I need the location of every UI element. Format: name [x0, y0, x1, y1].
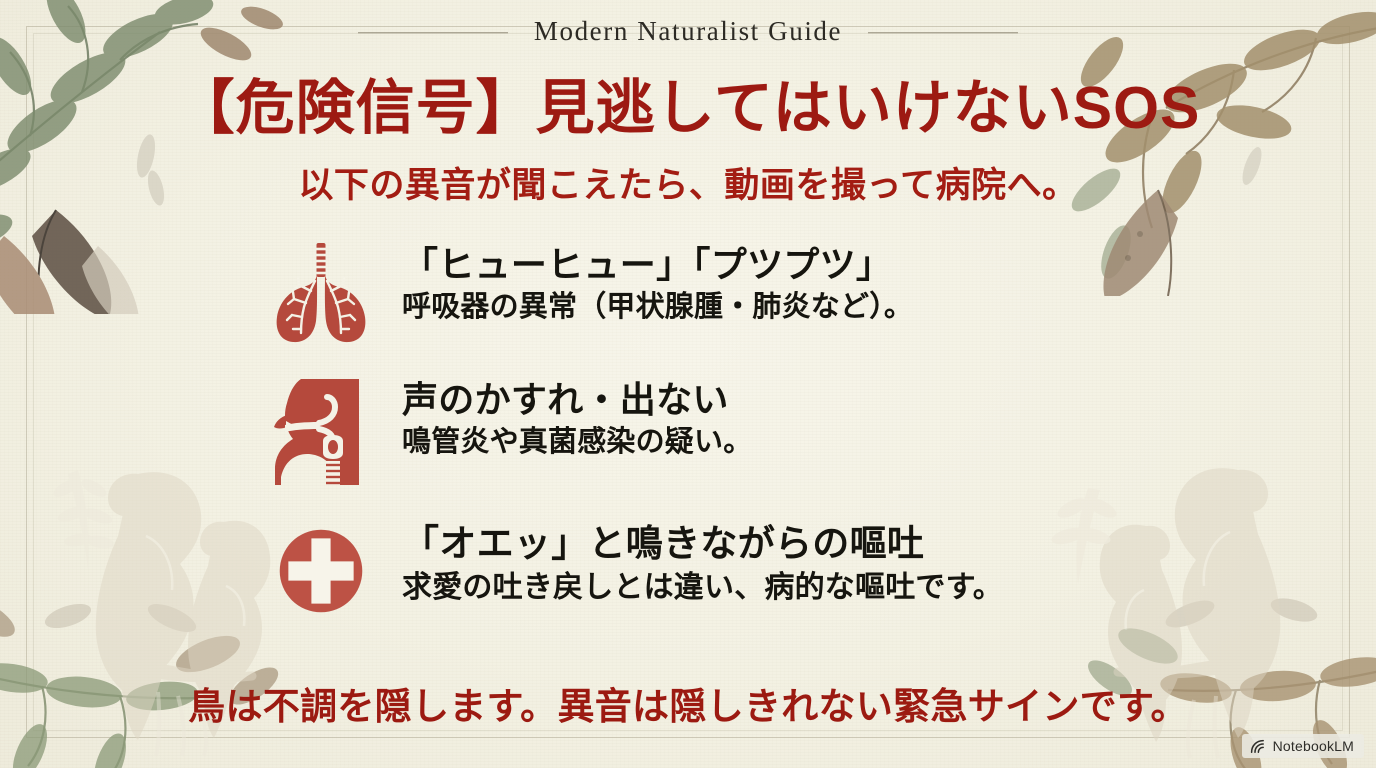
symptom-heading: 声のかすれ・出ない — [402, 379, 752, 421]
symptom-list: 「ヒューヒュー」「プツプツ」 呼吸器の異常（甲状腺腫・肺炎など）。 — [268, 238, 1228, 626]
headline-block: 【危険信号】見逃してはいけないSOS 以下の異音が聞こえたら、動画を撮って病院へ… — [0, 76, 1376, 208]
throat-larynx-icon — [268, 377, 374, 487]
symptom-copy: 「ヒューヒュー」「プツプツ」 呼吸器の異常（甲状腺腫・肺炎など）。 — [402, 238, 913, 325]
symptom-description: 求愛の吐き戻しとは違い、病的な嘔吐です。 — [402, 570, 1003, 606]
eyebrow-rule-left — [358, 32, 508, 34]
symptom-heading: 「オエッ」と鳴きながらの嘔吐 — [402, 522, 1003, 566]
eyebrow-rule-right — [868, 32, 1018, 34]
medical-cross-icon — [268, 516, 374, 626]
symptom-item-voice: 声のかすれ・出ない 鳴管炎や真菌感染の疑い。 — [268, 377, 1228, 487]
symptom-description: 鳴管炎や真菌感染の疑い。 — [402, 425, 752, 460]
symptom-heading: 「ヒューヒュー」「プツプツ」 — [402, 244, 913, 286]
symptom-item-vomiting: 「オエッ」と鳴きながらの嘔吐 求愛の吐き戻しとは違い、病的な嘔吐です。 — [268, 516, 1228, 626]
eyebrow-header: Modern Naturalist Guide — [0, 16, 1376, 47]
lungs-icon — [268, 238, 374, 348]
notebooklm-spiral-icon — [1250, 739, 1267, 754]
slide-canvas: Modern Naturalist Guide 【危険信号】見逃してはいけないS… — [0, 0, 1376, 768]
page-title: 【危険信号】見逃してはいけないSOS — [0, 76, 1376, 141]
page-subtitle: 以下の異音が聞こえたら、動画を撮って病院へ。 — [0, 157, 1376, 208]
symptom-copy: 「オエッ」と鳴きながらの嘔吐 求愛の吐き戻しとは違い、病的な嘔吐です。 — [402, 516, 1003, 606]
eyebrow-title: Modern Naturalist Guide — [534, 16, 842, 47]
symptom-description: 呼吸器の異常（甲状腺腫・肺炎など）。 — [402, 290, 913, 325]
symptom-copy: 声のかすれ・出ない 鳴管炎や真菌感染の疑い。 — [402, 377, 752, 460]
footer-note: 鳥は不調を隠します。異音は隠しきれない緊急サインです。 — [0, 676, 1376, 730]
symptom-item-respiratory: 「ヒューヒュー」「プツプツ」 呼吸器の異常（甲状腺腫・肺炎など）。 — [268, 238, 1228, 348]
watermark-label: NotebookLM — [1273, 738, 1354, 754]
notebooklm-watermark: NotebookLM — [1242, 734, 1364, 758]
